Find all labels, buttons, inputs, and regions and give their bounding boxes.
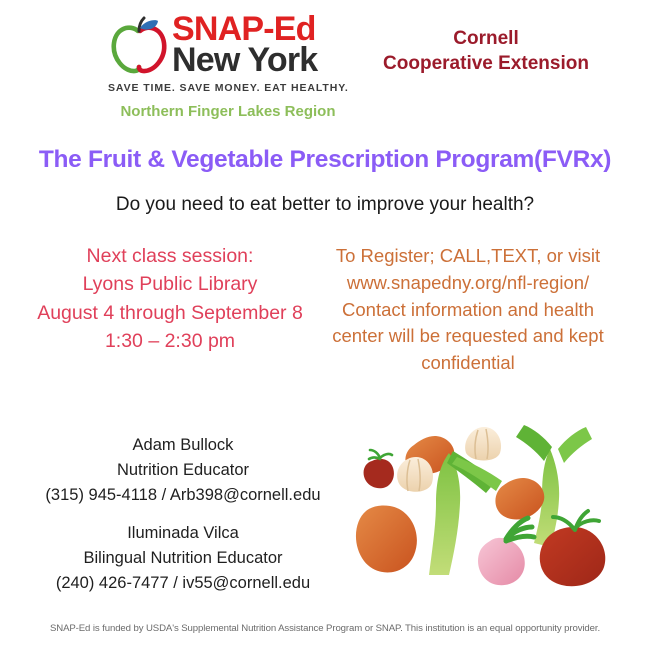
contact-detail[interactable]: (240) 426-7477 / iv55@cornell.edu: [14, 571, 352, 596]
apple-icon: [108, 14, 170, 76]
register-website[interactable]: www.snapedny.org/nfl-region/: [318, 270, 618, 297]
cornell-line-2: Cooperative Extension: [355, 51, 617, 76]
logo-mark-and-wordmark: SNAP-Ed New York: [108, 12, 348, 80]
header: SNAP-Ed New York SAVE TIME. SAVE MONEY. …: [0, 0, 650, 132]
produce-illustration: [354, 423, 634, 598]
program-title: The Fruit & Vegetable Prescription Progr…: [0, 146, 650, 174]
sweet-potato-icon: [356, 506, 417, 573]
registration-details: To Register; CALL,TEXT, or visit www.sna…: [318, 242, 618, 377]
session-details: Next class session: Lyons Public Library…: [22, 242, 318, 355]
strawberry-icon: [364, 450, 394, 488]
garlic-bulb-icon: [397, 457, 433, 492]
logo-tagline: SAVE TIME. SAVE MONEY. EAT HEALTHY.: [108, 82, 348, 94]
contact-card: Adam Bullock Nutrition Educator (315) 94…: [14, 433, 352, 507]
snap-ed-logo: SNAP-Ed New York SAVE TIME. SAVE MONEY. …: [108, 12, 348, 120]
contact-role: Bilingual Nutrition Educator: [14, 546, 352, 571]
cornell-line-1: Cornell: [355, 26, 617, 51]
session-line: Lyons Public Library: [22, 270, 318, 298]
cornell-cooperative-extension: Cornell Cooperative Extension: [355, 26, 617, 76]
bottom-section: Adam Bullock Nutrition Educator (315) 94…: [0, 423, 650, 610]
wordmark-newyork: New York: [172, 45, 317, 76]
funding-disclaimer: SNAP-Ed is funded by USDA's Supplemental…: [0, 623, 650, 634]
wordmark: SNAP-Ed New York: [172, 12, 317, 77]
contact-role: Nutrition Educator: [14, 458, 352, 483]
register-line: confidential: [318, 350, 618, 377]
sweet-potato-icon: [495, 478, 544, 520]
register-line: center will be requested and kept: [318, 323, 618, 350]
page-subtitle: Do you need to eat better to improve you…: [0, 194, 650, 216]
garlic-bulb-icon: [465, 427, 501, 461]
contact-name: Adam Bullock: [14, 433, 352, 458]
contact-detail[interactable]: (315) 945-4118 / Arb398@cornell.edu: [14, 483, 352, 508]
session-line: August 4 through September 8: [22, 299, 318, 327]
contact-list: Adam Bullock Nutrition Educator (315) 94…: [14, 423, 352, 610]
contact-card: Iluminada Vilca Bilingual Nutrition Educ…: [14, 521, 352, 595]
info-columns: Next class session: Lyons Public Library…: [0, 242, 650, 377]
contact-name: Iluminada Vilca: [14, 521, 352, 546]
register-line: Contact information and health: [318, 297, 618, 324]
onion-icon: [478, 518, 534, 585]
session-line: Next class session:: [22, 242, 318, 270]
logo-region-label: Northern Finger Lakes Region: [108, 103, 348, 120]
register-line: To Register; CALL,TEXT, or visit: [318, 243, 618, 270]
session-line: 1:30 – 2:30 pm: [22, 327, 318, 355]
